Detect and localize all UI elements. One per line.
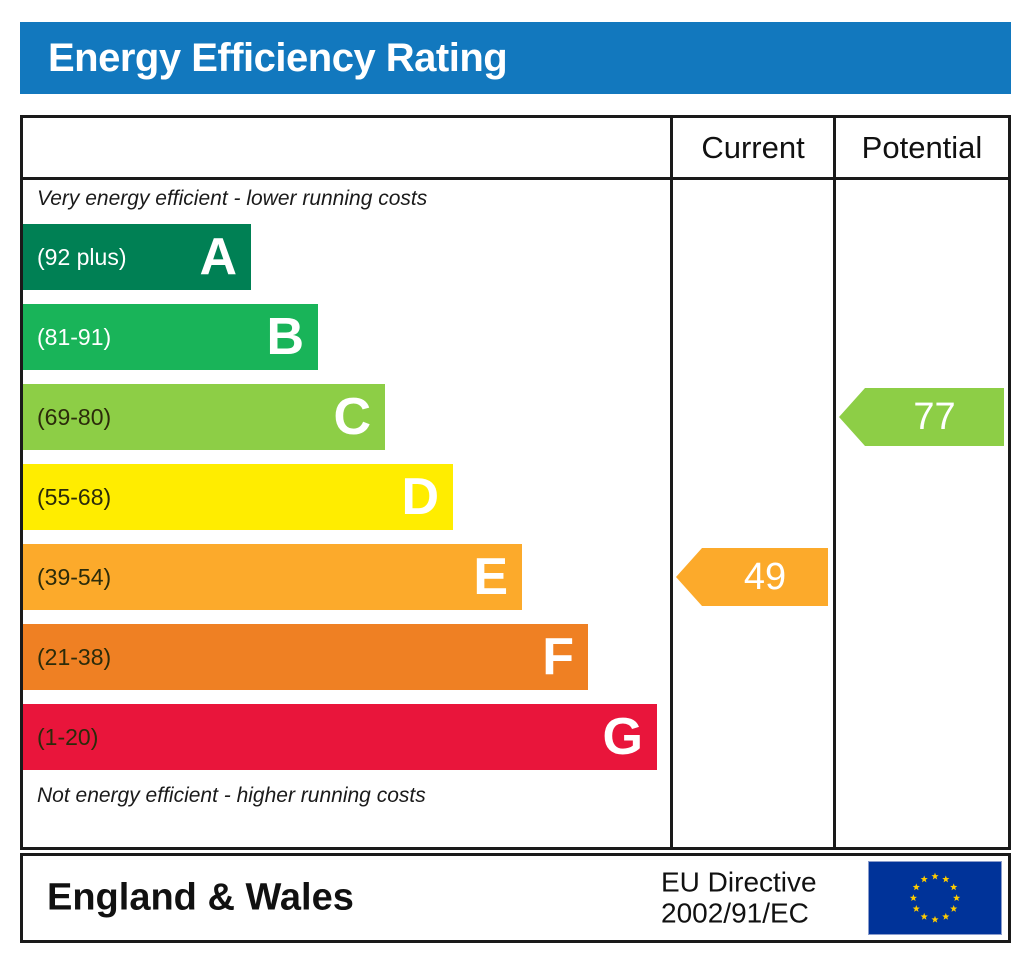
footer-directive-line1: EU Directive — [661, 867, 817, 898]
rating-band-range-g: (1-20) — [37, 726, 98, 749]
rating-band-letter-f: F — [542, 631, 574, 683]
rating-band-e: (39-54)E — [23, 544, 522, 610]
column-divider-potential — [833, 118, 836, 847]
rating-band-c: (69-80)C — [23, 384, 385, 450]
rating-band-letter-e: E — [473, 551, 508, 603]
page-title: Energy Efficiency Rating — [48, 38, 507, 78]
eu-flag-icon — [868, 861, 1002, 935]
column-header-potential: Potential — [836, 118, 1008, 177]
column-divider-current — [670, 118, 673, 847]
rating-band-range-d: (55-68) — [37, 486, 111, 509]
rating-band-d: (55-68)D — [23, 464, 453, 530]
rating-band-f: (21-38)F — [23, 624, 588, 690]
footer-region-label: England & Wales — [47, 877, 354, 920]
rating-marker-current: 49 — [676, 548, 828, 606]
rating-band-letter-b: B — [266, 311, 304, 363]
rating-band-a: (92 plus)A — [23, 224, 251, 290]
chart-title-bar: Energy Efficiency Rating — [20, 22, 1011, 94]
rating-band-b: (81-91)B — [23, 304, 318, 370]
table-header-row: Current Potential — [23, 118, 1008, 180]
rating-bands-area: Very energy efficient - lower running co… — [23, 180, 667, 847]
eu-flag-stars — [869, 862, 1001, 934]
rating-band-range-e: (39-54) — [37, 566, 111, 589]
rating-marker-potential: 77 — [839, 388, 1004, 446]
rating-band-range-c: (69-80) — [37, 406, 111, 429]
rating-band-letter-g: G — [603, 711, 643, 763]
column-header-current: Current — [673, 118, 833, 177]
rating-table: Current Potential Very energy efficient … — [20, 115, 1011, 850]
rating-band-range-a: (92 plus) — [37, 246, 126, 269]
rating-band-letter-d: D — [401, 471, 439, 523]
rating-band-g: (1-20)G — [23, 704, 657, 770]
rating-band-range-b: (81-91) — [37, 326, 111, 349]
note-not-efficient: Not energy efficient - higher running co… — [37, 784, 426, 808]
energy-efficiency-rating-chart: Energy Efficiency Rating Current Potenti… — [0, 0, 1031, 966]
rating-band-range-f: (21-38) — [37, 646, 111, 669]
footer-directive-line2: 2002/91/EC — [661, 898, 817, 929]
footer-bar: England & Wales EU Directive 2002/91/EC — [20, 853, 1011, 943]
note-very-efficient: Very energy efficient - lower running co… — [37, 187, 427, 211]
rating-band-letter-a: A — [199, 231, 237, 283]
footer-directive: EU Directive 2002/91/EC — [661, 867, 817, 930]
rating-band-letter-c: C — [333, 391, 371, 443]
